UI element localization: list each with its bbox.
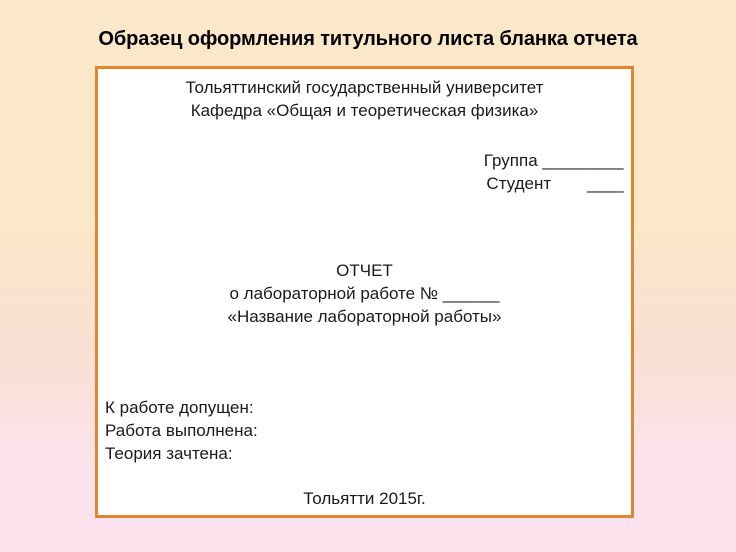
footer-city-year: Тольятти 2015г. xyxy=(98,487,631,510)
department-name: Кафедра «Общая и теоретическая физика» xyxy=(98,99,631,122)
organization-block: Тольяттинский государственный университе… xyxy=(98,76,631,122)
footer-block: Тольятти 2015г. xyxy=(98,487,631,510)
group-field-row: Группа _________ xyxy=(484,149,623,172)
report-subject: о лабораторной работе № ______ xyxy=(98,282,631,305)
report-block: ОТЧЕТ о лабораторной работе № ______ «На… xyxy=(98,259,631,328)
slide: Образец оформления титульного листа блан… xyxy=(0,0,736,552)
signoff-theory: Теория зачтена: xyxy=(105,442,258,465)
student-fields-block: Группа _________ Студент____ xyxy=(484,149,623,195)
page-title: Образец оформления титульного листа блан… xyxy=(0,28,736,51)
title-page-sheet: Тольяттинский государственный университе… xyxy=(95,66,634,518)
title-page-content: Тольяттинский государственный университе… xyxy=(98,69,631,515)
report-work-title: «Название лабораторной работы» xyxy=(98,305,631,328)
signoff-block: К работе допущен: Работа выполнена: Теор… xyxy=(105,396,258,465)
student-field-blank[interactable]: ____ xyxy=(587,174,623,193)
student-field-row: Студент____ xyxy=(484,172,623,195)
organization-name: Тольяттинский государственный университе… xyxy=(98,76,631,99)
group-field-blank[interactable]: _________ xyxy=(542,151,623,170)
signoff-admitted: К работе допущен: xyxy=(105,396,258,419)
report-heading: ОТЧЕТ xyxy=(98,259,631,282)
student-field-label: Студент xyxy=(486,174,551,193)
signoff-performed: Работа выполнена: xyxy=(105,419,258,442)
group-field-label: Группа xyxy=(484,151,538,170)
